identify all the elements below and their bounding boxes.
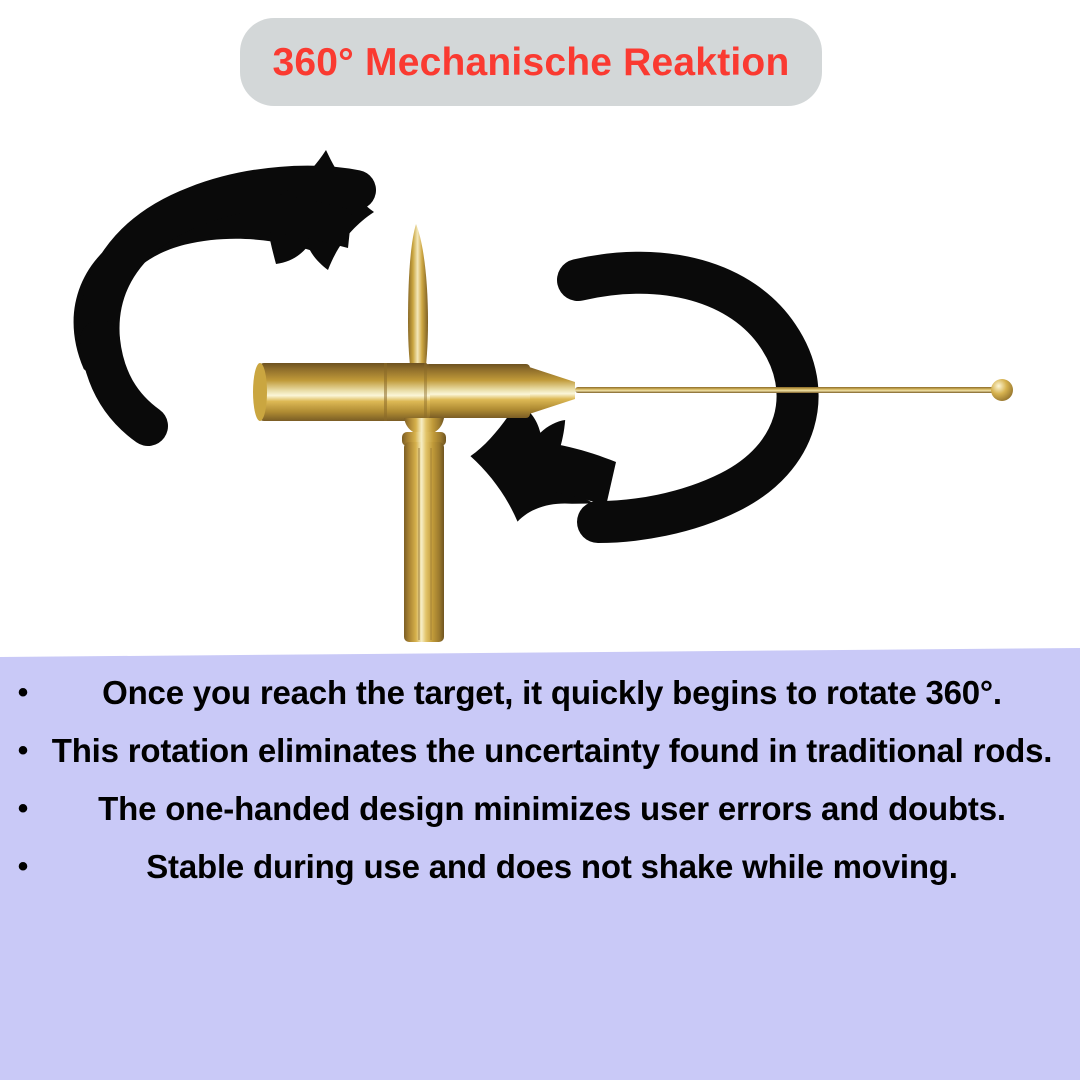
bullet-marker: • (0, 722, 46, 780)
bullet-marker: • (0, 780, 46, 838)
list-item: • The one-handed design minimizes user e… (0, 780, 1080, 838)
handle-grip (404, 442, 444, 642)
rod-seam-2 (424, 363, 427, 421)
title-badge: 360° Mechanische Reaktion (240, 18, 822, 106)
handle-flute-1 (418, 448, 420, 640)
rod-body-barrel (258, 363, 430, 421)
promo-slide: 360° Mechanische Reaktion (0, 0, 1080, 1080)
page-title: 360° Mechanische Reaktion (273, 43, 790, 82)
product-image (0, 110, 1080, 657)
rod-body-mid (425, 364, 530, 418)
product-illustration (0, 110, 1080, 657)
rod-ball-tip (991, 379, 1013, 401)
rod-seam-1 (384, 363, 387, 421)
rod-antenna (575, 387, 1005, 393)
rod-barrel-cap (253, 363, 267, 421)
bullet-text: Once you reach the target, it quickly be… (46, 664, 1074, 722)
bullet-text: The one-handed design minimizes user err… (46, 780, 1074, 838)
list-item: • Once you reach the target, it quickly … (0, 664, 1080, 722)
handle-flute-2 (430, 448, 432, 640)
bullet-marker: • (0, 664, 46, 722)
bullet-text: Stable during use and does not shake whi… (46, 838, 1074, 896)
bullet-text: This rotation eliminates the uncertainty… (46, 722, 1074, 780)
list-item: • This rotation eliminates the uncertain… (0, 722, 1080, 780)
feature-bullet-panel: • Once you reach the target, it quickly … (0, 648, 1080, 1080)
bullet-marker: • (0, 838, 46, 896)
list-item: • Stable during use and does not shake w… (0, 838, 1080, 896)
